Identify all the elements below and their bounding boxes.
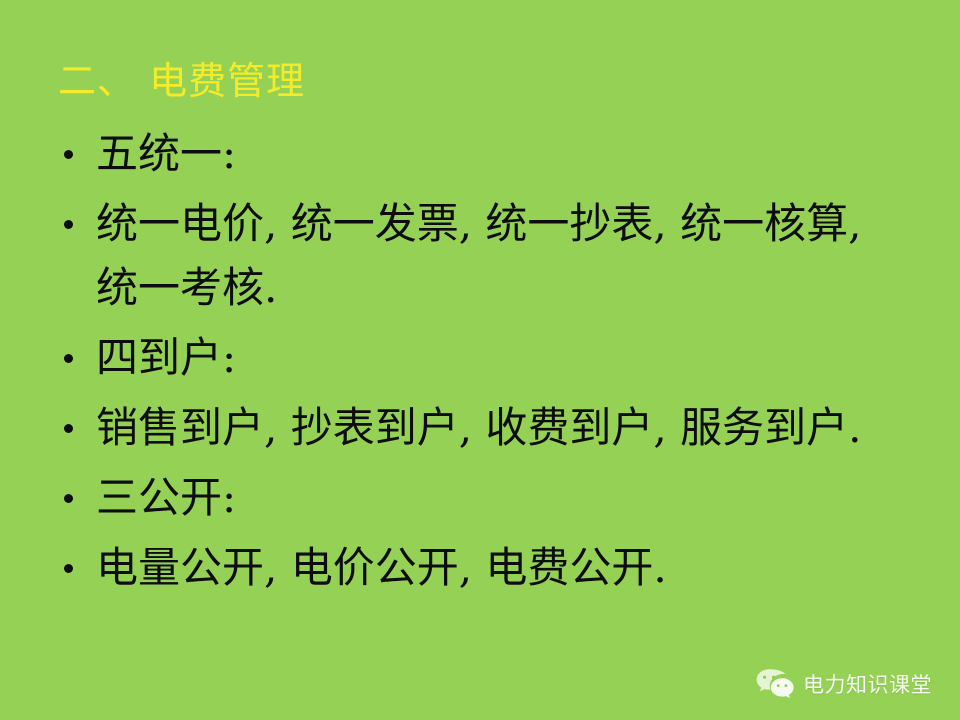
list-item: 电量公开, 电价公开, 电费公开. xyxy=(56,536,904,600)
list-item: 销售到户, 抄表到户, 收费到户, 服务到户. xyxy=(56,396,904,460)
list-item: 统一电价, 统一发票, 统一抄表, 统一核算, 统一考核. xyxy=(56,192,904,320)
bullet-dot-icon xyxy=(64,494,73,503)
list-item-text: 统一电价, 统一发票, 统一抄表, 统一核算, 统一考核. xyxy=(96,192,904,320)
slide-canvas: 二、 电费管理 五统一: 统一电价, 统一发票, 统一抄表, 统一核算, 统一考… xyxy=(0,0,960,720)
page-title: 二、 电费管理 xyxy=(58,58,305,104)
bullet-list: 五统一: 统一电价, 统一发票, 统一抄表, 统一核算, 统一考核. 四到户: … xyxy=(56,122,904,606)
bullet-dot-icon xyxy=(64,220,73,229)
bullet-dot-icon xyxy=(64,150,73,159)
list-item-text: 五统一: xyxy=(96,122,904,186)
bullet-dot-icon xyxy=(64,564,73,573)
list-item-text: 销售到户, 抄表到户, 收费到户, 服务到户. xyxy=(96,396,904,460)
list-item-text: 四到户: xyxy=(96,326,904,390)
list-item-text: 电量公开, 电价公开, 电费公开. xyxy=(96,536,904,600)
list-item: 四到户: xyxy=(56,326,904,390)
list-item: 五统一: xyxy=(56,122,904,186)
bullet-dot-icon xyxy=(64,424,73,433)
watermark-label: 电力知识课堂 xyxy=(803,673,932,697)
wechat-logo-icon xyxy=(755,668,795,702)
bullet-dot-icon xyxy=(64,354,73,363)
list-item-text: 三公开: xyxy=(96,466,904,530)
watermark: 电力知识课堂 xyxy=(755,668,932,702)
list-item: 三公开: xyxy=(56,466,904,530)
